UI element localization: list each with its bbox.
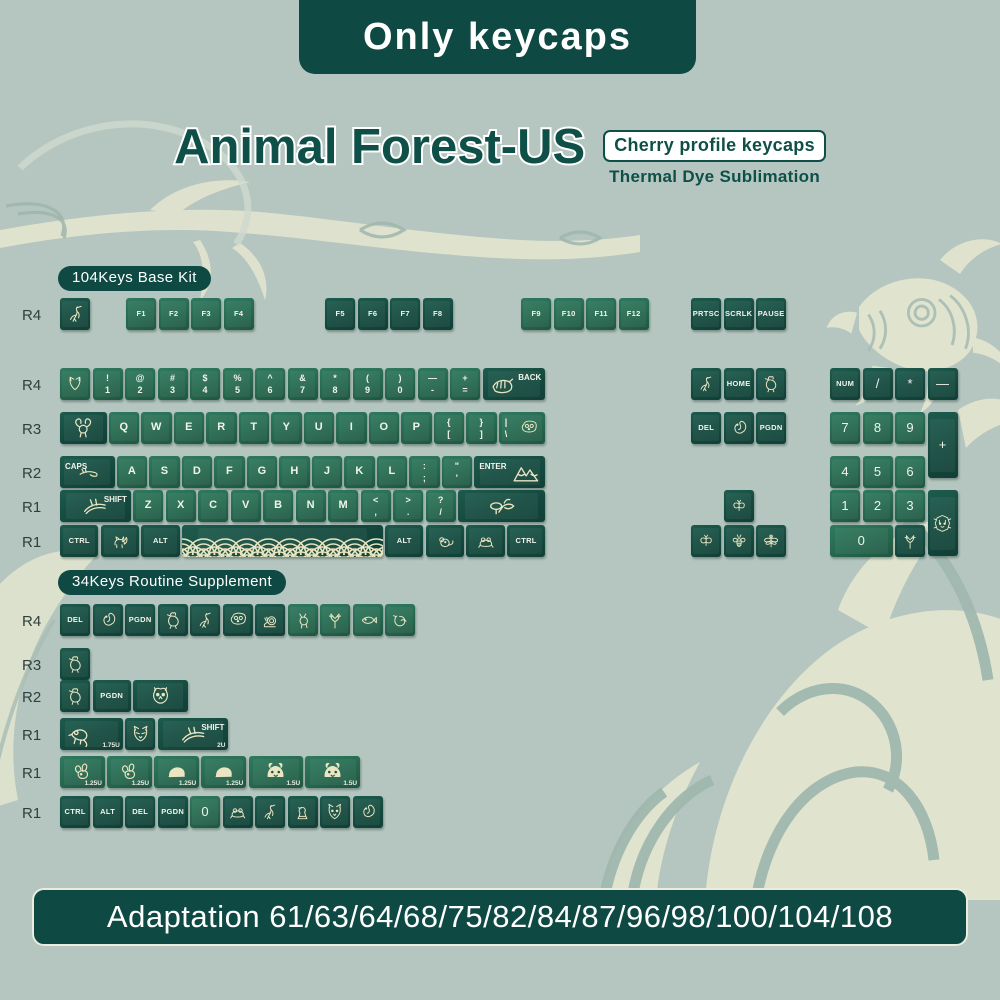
keycap-key-n: N bbox=[296, 490, 326, 522]
row-label-r4: R4 bbox=[22, 377, 41, 394]
keycap-legend: (9 bbox=[353, 368, 383, 400]
keycap-f9: F9 bbox=[521, 298, 551, 330]
keycap-key-3: #3 bbox=[158, 368, 188, 400]
keycap-legend: "' bbox=[442, 456, 472, 488]
row-label-r4: R4 bbox=[22, 307, 41, 324]
keycap-key-y: Y bbox=[271, 412, 301, 444]
keycap-legend-upper: $ bbox=[202, 374, 207, 383]
keycap-supp-antler bbox=[320, 604, 350, 636]
keycap-legend-lower: ; bbox=[423, 474, 426, 483]
keycap-legend-lower: 4 bbox=[202, 386, 207, 395]
keycap-alt-right: ALT bbox=[385, 525, 423, 557]
keycap-backspace: BACK bbox=[483, 368, 546, 400]
keycap-legend: CAPS bbox=[65, 462, 87, 471]
keycap-legend: 8 bbox=[863, 412, 893, 444]
keycap-supp-hedgehog-2: 1.25U bbox=[201, 756, 246, 788]
keycap-legend: J bbox=[312, 456, 342, 488]
keycap-legend: F12 bbox=[619, 298, 649, 330]
keycap-legend-lower: / bbox=[439, 508, 442, 517]
keycap-legend-upper: < bbox=[373, 496, 379, 505]
owl-icon bbox=[223, 604, 253, 636]
keycap-supp-rabbit-1: 1.25U bbox=[60, 756, 105, 788]
keycap-legend-lower: 5 bbox=[235, 386, 240, 395]
keycap-key-9: (9 bbox=[353, 368, 383, 400]
bird-icon bbox=[385, 604, 415, 636]
keycap-key-i: I bbox=[336, 412, 366, 444]
keycap-legend: F3 bbox=[191, 298, 221, 330]
fish-icon bbox=[353, 604, 383, 636]
raccoon-icon bbox=[125, 718, 155, 750]
keycap-key-6: ^6 bbox=[255, 368, 285, 400]
keycap-legend: F6 bbox=[358, 298, 388, 330]
keycap-np-1: 1 bbox=[830, 490, 860, 522]
keycap-np-2: 2 bbox=[863, 490, 893, 522]
keycap-legend: <, bbox=[361, 490, 391, 522]
keycap-legend: *8 bbox=[320, 368, 350, 400]
keycap-key-e: E bbox=[174, 412, 204, 444]
cat-icon bbox=[101, 525, 139, 557]
squirrel-icon bbox=[724, 412, 754, 444]
keycap-alt-left: ALT bbox=[141, 525, 179, 557]
keycap-key-h: H bbox=[279, 456, 309, 488]
rooster-icon bbox=[756, 368, 786, 400]
keycap-legend: + bbox=[928, 412, 958, 478]
keycap-fn-key bbox=[426, 525, 464, 557]
keycap-legend: 9 bbox=[895, 412, 925, 444]
keycap-legend: I bbox=[336, 412, 366, 444]
row-label-r4: R4 bbox=[22, 613, 41, 630]
keycap-f3: F3 bbox=[191, 298, 221, 330]
wolf-face-icon bbox=[320, 796, 350, 828]
keycap-supp-pgdn2: PGDN bbox=[158, 796, 188, 828]
keycap-key-8: *8 bbox=[320, 368, 350, 400]
keycap-f6: F6 bbox=[358, 298, 388, 330]
keycap-spacebar bbox=[182, 525, 383, 557]
keycap-scrlk: SCRLK bbox=[724, 298, 754, 330]
keycap-legend: —- bbox=[418, 368, 448, 400]
keycap-legend: @2 bbox=[125, 368, 155, 400]
keycap-legend-lower: \ bbox=[505, 430, 508, 439]
keycap-legend: 3 bbox=[895, 490, 925, 522]
keycap-legend: N bbox=[296, 490, 326, 522]
keycap-legend: E bbox=[174, 412, 204, 444]
keycap-legend-upper: ! bbox=[106, 374, 109, 383]
keycap-f12: F12 bbox=[619, 298, 649, 330]
keycap-win-left bbox=[101, 525, 139, 557]
keycap-slash: ?/ bbox=[426, 490, 456, 522]
keycap-legend: |\ bbox=[499, 412, 546, 444]
keycap-supp-heron2 bbox=[255, 796, 285, 828]
keycap-supp-zero: 0 bbox=[190, 796, 220, 828]
keycap-key-l: L bbox=[377, 456, 407, 488]
keycap-supp-r3-rooster bbox=[60, 648, 90, 680]
keycap-legend: 1 bbox=[830, 490, 860, 522]
mouse-icon bbox=[426, 525, 464, 557]
keycap-legend: S bbox=[149, 456, 179, 488]
keycap-legend-lower: - bbox=[431, 386, 434, 395]
keycap-legend: F bbox=[214, 456, 244, 488]
keycap-pause: PAUSE bbox=[756, 298, 786, 330]
keycap-legend: P bbox=[401, 412, 431, 444]
keycap-legend: F4 bbox=[224, 298, 254, 330]
keycap-key-r: R bbox=[206, 412, 236, 444]
keycap-arrow-down bbox=[724, 525, 754, 557]
keycap-legend: NUM bbox=[830, 368, 860, 400]
keycap-legend: DEL bbox=[60, 604, 90, 636]
keycap-supp-r2-rooster bbox=[60, 680, 90, 712]
moth-icon bbox=[724, 490, 754, 522]
keycap-insert bbox=[691, 368, 721, 400]
keycap-supp-bird bbox=[385, 604, 415, 636]
rooster-icon bbox=[60, 680, 90, 712]
heron-icon bbox=[190, 604, 220, 636]
keycap-legend-upper: { bbox=[447, 418, 451, 427]
keycap-legend-lower: 2 bbox=[137, 386, 142, 395]
keycap-legend: BACK bbox=[518, 373, 541, 382]
heron-icon bbox=[255, 796, 285, 828]
row-label-r1: R1 bbox=[22, 727, 41, 744]
keycap-supp-panda-1: 1.5U bbox=[249, 756, 304, 788]
keycap-key-2: @2 bbox=[125, 368, 155, 400]
keycap-legend-upper: : bbox=[423, 462, 426, 471]
keycap-legend-upper: | bbox=[505, 418, 508, 427]
mountain-icon bbox=[474, 456, 545, 488]
keycap-np-0: 0 bbox=[830, 525, 893, 557]
keycap-arrow-up bbox=[724, 490, 754, 522]
keycap-bracket-right: }] bbox=[466, 412, 496, 444]
keycap-np-7: 7 bbox=[830, 412, 860, 444]
keycap-key-1: !1 bbox=[93, 368, 123, 400]
keycap-legend: 7 bbox=[830, 412, 860, 444]
keycap-key-5: %5 bbox=[223, 368, 253, 400]
keycap-backslash: |\ bbox=[499, 412, 546, 444]
keycap-legend: 0 bbox=[830, 525, 893, 557]
keycap-legend-lower: 7 bbox=[300, 386, 305, 395]
keycap-legend: H bbox=[279, 456, 309, 488]
keycap-key-q: Q bbox=[109, 412, 139, 444]
keycap-key-g: G bbox=[247, 456, 277, 488]
keycap-key-0: )0 bbox=[385, 368, 415, 400]
keycap-ctrl-left: CTRL bbox=[60, 525, 98, 557]
fox-head-icon bbox=[60, 368, 90, 400]
duck-icon bbox=[288, 796, 318, 828]
keycap-np-divide: / bbox=[863, 368, 893, 400]
anteater-mushroom-icon bbox=[458, 490, 545, 522]
keycap-end bbox=[724, 412, 754, 444]
keycap-legend: HOME bbox=[724, 368, 754, 400]
keycap-key-4: $4 bbox=[190, 368, 220, 400]
keycap-legend: PGDN bbox=[93, 680, 131, 712]
keycap-legend: 4 bbox=[830, 456, 860, 488]
keycap-f5: F5 bbox=[325, 298, 355, 330]
keycap-legend: O bbox=[369, 412, 399, 444]
row-label-r1: R1 bbox=[22, 805, 41, 822]
adaptation-footer: Adaptation 61/63/64/68/75/82/84/87/96/98… bbox=[32, 888, 968, 946]
keycap-legend: 0 bbox=[190, 796, 220, 828]
keycap-legend: G bbox=[247, 456, 277, 488]
only-keycaps-text: Only keycaps bbox=[363, 16, 632, 59]
keycap-esc bbox=[60, 298, 90, 330]
keycap-shift-left: SHIFT bbox=[60, 490, 131, 522]
keycap-key-z: Z bbox=[133, 490, 163, 522]
row-label-r1: R1 bbox=[22, 534, 41, 551]
frog-icon bbox=[466, 525, 504, 557]
keycap-legend-lower: ] bbox=[480, 430, 483, 439]
row-label-r3: R3 bbox=[22, 657, 41, 674]
only-keycaps-banner: Only keycaps bbox=[299, 0, 696, 74]
keycap-legend: PGDN bbox=[125, 604, 155, 636]
keycap-minus: —- bbox=[418, 368, 448, 400]
bee-icon bbox=[724, 525, 754, 557]
keycap-key-x: X bbox=[166, 490, 196, 522]
keycap-legend: F2 bbox=[159, 298, 189, 330]
keycap-comma: <, bbox=[361, 490, 391, 522]
keycap-key-m: M bbox=[328, 490, 358, 522]
keycap-legend: SHIFT bbox=[104, 495, 127, 504]
keycap-legend: B bbox=[263, 490, 293, 522]
supplement-badge-label: 34Keys Routine Supplement bbox=[72, 573, 272, 590]
keycap-supp-r2-tiger-face bbox=[133, 680, 188, 712]
keycap-legend-upper: ) bbox=[398, 374, 401, 383]
keycap-supp-fish bbox=[353, 604, 383, 636]
keycap-supp-panda-2: 1.5U bbox=[305, 756, 360, 788]
keycap-size-label: 1.75U bbox=[102, 742, 119, 749]
keycap-np-minus: — bbox=[928, 368, 958, 400]
keycap-legend: ALT bbox=[385, 525, 423, 557]
keycap-supp-rabbit-2: 1.25U bbox=[107, 756, 152, 788]
keycap-legend-lower: 8 bbox=[332, 386, 337, 395]
fawn-icon bbox=[288, 604, 318, 636]
antler-icon bbox=[895, 525, 925, 557]
keycap-f8: F8 bbox=[423, 298, 453, 330]
title-row: Animal Forest-US Cherry profile keycaps … bbox=[0, 118, 1000, 198]
keycap-np-4: 4 bbox=[830, 456, 860, 488]
keycap-ctrl-right: CTRL bbox=[507, 525, 545, 557]
keycap-supp-raccoon bbox=[125, 718, 155, 750]
keycap-key-p: P bbox=[401, 412, 431, 444]
keycap-legend: SHIFT bbox=[201, 723, 224, 732]
keycap-size-label: 2U bbox=[217, 742, 225, 749]
keycap-legend: ?/ bbox=[426, 490, 456, 522]
keycap-legend: D bbox=[182, 456, 212, 488]
keycap-legend: T bbox=[239, 412, 269, 444]
keycap-key-s: S bbox=[149, 456, 179, 488]
squirrel-icon bbox=[93, 604, 123, 636]
keycap-legend: F7 bbox=[390, 298, 420, 330]
lion-face-icon bbox=[928, 490, 958, 556]
keycap-legend: L bbox=[377, 456, 407, 488]
keycap-legend-upper: * bbox=[333, 374, 337, 383]
supplement-badge: 34Keys Routine Supplement bbox=[58, 570, 286, 595]
keycap-legend: #3 bbox=[158, 368, 188, 400]
keycap-legend: CTRL bbox=[60, 525, 98, 557]
keycap-size-label: 1.25U bbox=[226, 780, 243, 787]
rooster-icon bbox=[158, 604, 188, 636]
keycap-home: HOME bbox=[724, 368, 754, 400]
keycap-legend: W bbox=[141, 412, 171, 444]
keycap-legend: += bbox=[450, 368, 480, 400]
keycap-legend-lower: ' bbox=[456, 474, 458, 483]
keycap-supp-chameleon: 1.75U bbox=[60, 718, 123, 750]
keycap-bracket-left: {[ bbox=[434, 412, 464, 444]
keycap-legend-upper: ( bbox=[366, 374, 369, 383]
row-label-r2: R2 bbox=[22, 465, 41, 482]
keycap-legend-upper: } bbox=[479, 418, 483, 427]
keycap-legend: F10 bbox=[554, 298, 584, 330]
keycap-legend: &7 bbox=[288, 368, 318, 400]
row-label-r2: R2 bbox=[22, 689, 41, 706]
keycap-supp-alt: ALT bbox=[93, 796, 123, 828]
keycap-key-u: U bbox=[304, 412, 334, 444]
keycap-legend: Q bbox=[109, 412, 139, 444]
keycap-legend-lower: = bbox=[462, 386, 468, 395]
keycap-arrow-right bbox=[756, 525, 786, 557]
keycap-size-label: 1.5U bbox=[343, 780, 357, 787]
keycap-equals: += bbox=[450, 368, 480, 400]
keycap-legend-upper: + bbox=[462, 374, 468, 383]
keycap-legend: C bbox=[198, 490, 228, 522]
keycap-legend-upper: @ bbox=[136, 374, 145, 383]
keycap-legend: M bbox=[328, 490, 358, 522]
keycap-legend: }] bbox=[466, 412, 496, 444]
keycap-supp-heron bbox=[190, 604, 220, 636]
keycap-legend: CTRL bbox=[507, 525, 545, 557]
keycap-legend: PAUSE bbox=[756, 298, 786, 330]
keycap-supp-del2: DEL bbox=[125, 796, 155, 828]
keycap-legend: K bbox=[344, 456, 374, 488]
keycap-legend: Z bbox=[133, 490, 163, 522]
keycap-f7: F7 bbox=[390, 298, 420, 330]
keycap-legend: F5 bbox=[325, 298, 355, 330]
keycap-supp-shift-deer: SHIFT2U bbox=[158, 718, 229, 750]
keycap-delete: DEL bbox=[691, 412, 721, 444]
keycap-pageup bbox=[756, 368, 786, 400]
keycap-np-plus: + bbox=[928, 412, 958, 478]
keycap-supp-rooster bbox=[158, 604, 188, 636]
base-kit-badge-label: 104Keys Base Kit bbox=[72, 269, 197, 286]
row-label-r1: R1 bbox=[22, 499, 41, 516]
keycap-legend: Y bbox=[271, 412, 301, 444]
keycap-legend-lower: . bbox=[407, 508, 410, 517]
keycap-legend: 6 bbox=[895, 456, 925, 488]
wave-pattern-icon bbox=[182, 525, 383, 557]
keycap-prtsc: PRTSC bbox=[691, 298, 721, 330]
keycap-legend: U bbox=[304, 412, 334, 444]
keycap-supp-hedgehog-1: 1.25U bbox=[154, 756, 199, 788]
cherry-profile-badge: Cherry profile keycaps bbox=[603, 130, 826, 162]
keycap-shift-right bbox=[458, 490, 545, 522]
keycap-capslock: CAPS bbox=[60, 456, 115, 488]
keycap-menu-key bbox=[466, 525, 504, 557]
keycap-f10: F10 bbox=[554, 298, 584, 330]
rooster-icon bbox=[60, 648, 90, 680]
keycap-legend: ALT bbox=[141, 525, 179, 557]
keycap-np-6: 6 bbox=[895, 456, 925, 488]
keycap-supp-r2-pgdn: PGDN bbox=[93, 680, 131, 712]
keycap-legend: F8 bbox=[423, 298, 453, 330]
keycap-legend: :; bbox=[409, 456, 439, 488]
keycap-legend: {[ bbox=[434, 412, 464, 444]
keycap-supp-duck bbox=[288, 796, 318, 828]
keycap-enter: ENTER bbox=[474, 456, 545, 488]
keycap-period: >. bbox=[393, 490, 423, 522]
keycap-np-9: 9 bbox=[895, 412, 925, 444]
keycap-supp-pgdn: PGDN bbox=[125, 604, 155, 636]
cherry-profile-text: Cherry profile keycaps bbox=[614, 135, 815, 155]
keycap-np-decimal bbox=[895, 525, 925, 557]
keycap-key-v: V bbox=[231, 490, 261, 522]
snail-icon bbox=[255, 604, 285, 636]
keycap-legend: F1 bbox=[126, 298, 156, 330]
keycap-legend: %5 bbox=[223, 368, 253, 400]
keycap-legend: * bbox=[895, 368, 925, 400]
adaptation-text: Adaptation 61/63/64/68/75/82/84/87/96/98… bbox=[107, 899, 893, 935]
keycap-key-7: &7 bbox=[288, 368, 318, 400]
keycap-legend-lower: 3 bbox=[170, 386, 175, 395]
keycap-legend-upper: > bbox=[405, 496, 411, 505]
keycap-legend: 5 bbox=[863, 456, 893, 488]
keycap-key-k: K bbox=[344, 456, 374, 488]
keycap-legend-upper: — bbox=[428, 374, 437, 383]
keycap-key-o: O bbox=[369, 412, 399, 444]
keycap-legend-lower: [ bbox=[447, 430, 450, 439]
keycap-legend-lower: 6 bbox=[267, 386, 272, 395]
keycap-legend-upper: " bbox=[455, 462, 460, 471]
keycap-legend: DEL bbox=[125, 796, 155, 828]
keycap-legend: ALT bbox=[93, 796, 123, 828]
keycap-key-w: W bbox=[141, 412, 171, 444]
keycap-legend-upper: ? bbox=[438, 496, 444, 505]
keycap-legend-lower: 0 bbox=[397, 386, 402, 395]
keycap-f1: F1 bbox=[126, 298, 156, 330]
ram-icon bbox=[60, 412, 107, 444]
keycap-size-label: 1.25U bbox=[179, 780, 196, 787]
keycap-legend: )0 bbox=[385, 368, 415, 400]
keycap-legend: >. bbox=[393, 490, 423, 522]
keycap-legend: PRTSC bbox=[691, 298, 721, 330]
keycap-legend: F9 bbox=[521, 298, 551, 330]
keycap-key-f: F bbox=[214, 456, 244, 488]
keycap-numlock: NUM bbox=[830, 368, 860, 400]
keycap-legend: X bbox=[166, 490, 196, 522]
row-label-r1: R1 bbox=[22, 765, 41, 782]
keycap-size-label: 1.25U bbox=[132, 780, 149, 787]
keycap-legend: F11 bbox=[586, 298, 616, 330]
keycap-key-b: B bbox=[263, 490, 293, 522]
keycap-supp-del: DEL bbox=[60, 604, 90, 636]
keycap-key-j: J bbox=[312, 456, 342, 488]
heron-icon bbox=[691, 368, 721, 400]
keycap-legend: — bbox=[928, 368, 958, 400]
keycap-supp-frog bbox=[223, 796, 253, 828]
keycap-np-multiply: * bbox=[895, 368, 925, 400]
keycap-pagedown: PGDN bbox=[756, 412, 786, 444]
keycap-legend-upper: & bbox=[299, 374, 306, 383]
keycap-legend: SCRLK bbox=[724, 298, 754, 330]
keycap-supp-wolf bbox=[320, 796, 350, 828]
keycap-size-label: 1.5U bbox=[286, 780, 300, 787]
keycap-np-5: 5 bbox=[863, 456, 893, 488]
keycap-legend: !1 bbox=[93, 368, 123, 400]
keycap-key-t: T bbox=[239, 412, 269, 444]
keycap-legend: A bbox=[117, 456, 147, 488]
keycap-legend-upper: % bbox=[233, 374, 241, 383]
keycap-legend: / bbox=[863, 368, 893, 400]
keycap-f2: F2 bbox=[159, 298, 189, 330]
keycap-np-8: 8 bbox=[863, 412, 893, 444]
keycap-size-label: 1.25U bbox=[85, 780, 102, 787]
keycap-f11: F11 bbox=[586, 298, 616, 330]
